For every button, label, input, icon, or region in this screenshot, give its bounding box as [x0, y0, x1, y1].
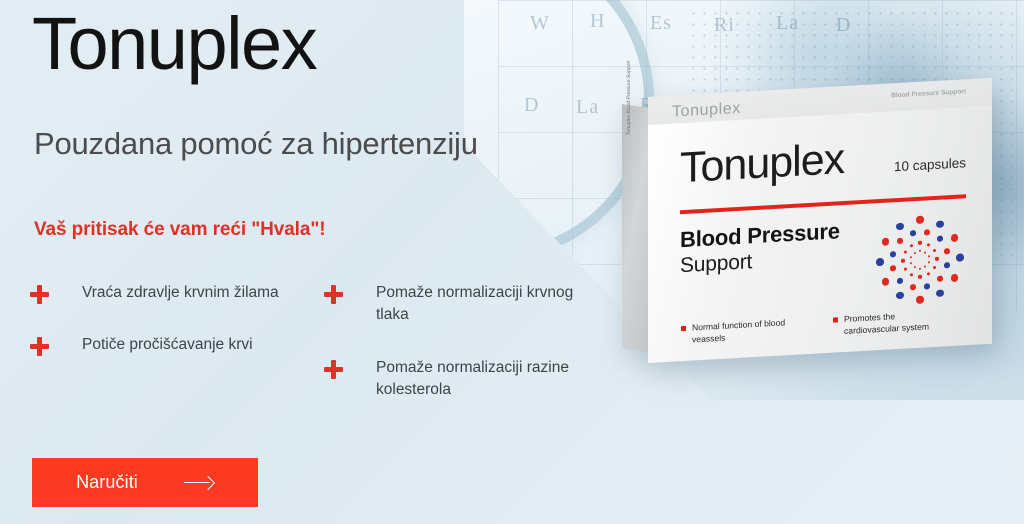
package-front-face: Tonuplex 10 capsules Blood Pressure Supp…	[648, 106, 992, 363]
benefit-text: Pomaže normalizaciji razine kolesterola	[353, 357, 600, 402]
benefit-text: Vraća zdravlje krvnim žilama	[59, 282, 279, 304]
benefit-text: Potiče pročišćavanje krvi	[59, 334, 253, 356]
package-side-text: Tonuplex Blood Pressure Support	[626, 25, 634, 136]
page-subtitle: Pouzdana pomoć za hipertenziju	[34, 126, 478, 162]
benefit-item: Potiče pročišćavanje krvi	[30, 334, 306, 356]
background-element-symbol: D	[836, 14, 851, 37]
package-red-rule	[680, 194, 966, 213]
package-brand-name: Tonuplex	[680, 135, 844, 193]
package-top-brand: Tonuplex	[672, 100, 741, 122]
package-bullet-list: Normal function of blood veassels Promot…	[681, 306, 970, 347]
package-side-panel: Tonuplex Blood Pressure Support	[622, 104, 650, 352]
arrow-right-icon	[184, 477, 214, 489]
landing-hero-screen: W H Es Ri La D D La Rt Hr W Es P ve Tonu…	[0, 0, 1024, 524]
package-bullet-text: Promotes the cardiovascular system	[844, 307, 951, 337]
plus-icon	[30, 285, 49, 304]
package-bullet-text: Normal function of blood veassels	[692, 316, 799, 346]
benefits-column-right: Pomaže normalizaciji krvnog tlaka Pomaže…	[324, 282, 600, 402]
benefit-text: Pomaže normalizaciji krvnog tlaka	[353, 282, 600, 327]
order-button[interactable]: Naručiti	[32, 458, 258, 507]
package-subhead: Support	[680, 250, 752, 278]
package-bullet-item: Promotes the cardiovascular system	[833, 307, 951, 338]
hero-content: Tonuplex Pouzdana pomoć za hipertenziju …	[0, 0, 620, 524]
plus-icon	[30, 337, 49, 356]
order-button-label: Naručiti	[76, 472, 138, 493]
benefit-item: Pomaže normalizaciji razine kolesterola	[324, 357, 600, 402]
benefits-list: Vraća zdravlje krvnim žilama Potiče proč…	[30, 282, 600, 402]
benefit-item: Pomaže normalizaciji krvnog tlaka	[324, 282, 600, 327]
plus-icon	[324, 360, 343, 379]
package-top-tagline: Blood Pressure Support	[891, 88, 966, 101]
package-quantity: 10 capsules	[894, 155, 966, 174]
background-element-symbol: Es	[650, 12, 672, 35]
package-bullet-item: Normal function of blood veassels	[681, 316, 799, 347]
benefit-item: Vraća zdravlje krvnim žilama	[30, 282, 306, 304]
square-bullet-icon	[833, 317, 838, 322]
molecule-circle-icon	[874, 211, 966, 308]
hero-tagline: Vaš pritisak će vam reći "Hvala"!	[34, 219, 325, 241]
background-element-symbol: Ri	[714, 14, 735, 37]
benefits-column-left: Vraća zdravlje krvnim žilama Potiče proč…	[30, 282, 306, 402]
package-headline: Blood Pressure	[680, 218, 840, 253]
square-bullet-icon	[681, 326, 686, 331]
page-title: Tonuplex	[32, 0, 316, 91]
plus-icon	[324, 285, 343, 304]
product-package: Tonuplex Blood Pressure Support Tonuplex…	[622, 97, 992, 363]
background-element-symbol: La	[776, 12, 799, 35]
